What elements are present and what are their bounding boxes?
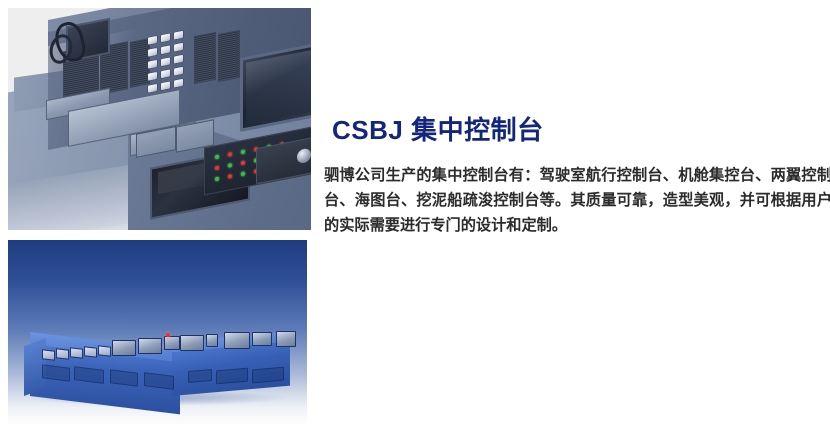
indicator-led — [215, 155, 219, 160]
photo-scene-engine-console — [26, 322, 288, 394]
access-door-panel — [252, 367, 284, 384]
console-access-doors — [26, 322, 288, 394]
indicator-led — [228, 163, 232, 168]
engine-room-console-photo — [8, 240, 307, 426]
product-description: 驷博公司生产的集中控制台有：驾驶室航行控制台、机舱集控台、两翼控制台、海图台、挖… — [324, 163, 830, 238]
indicator-led — [228, 174, 232, 179]
indicator-led — [215, 166, 219, 171]
access-door-panel — [74, 366, 104, 384]
access-door-panel — [144, 372, 174, 390]
indicator-led — [241, 160, 245, 165]
access-door-panel — [110, 369, 138, 386]
bridge-navigation-console-photo — [8, 8, 311, 230]
access-door-panel — [188, 369, 212, 383]
indicator-led — [241, 171, 245, 176]
monitor-glass — [246, 49, 311, 125]
access-door-panel — [42, 364, 70, 381]
louvre-vent — [218, 30, 240, 82]
access-door-panel — [216, 368, 248, 385]
rotary-knob — [297, 148, 311, 165]
product-photo-column — [0, 0, 312, 434]
indicator-led — [241, 149, 245, 154]
louvre-vent — [130, 38, 150, 88]
product-text-column: CSBJ 集中控制台 驷博公司生产的集中控制台有：驾驶室航行控制台、机舱集控台、… — [324, 0, 830, 434]
indicator-led — [228, 152, 232, 157]
console-main-monitor — [240, 42, 311, 132]
product-title: CSBJ 集中控制台 — [332, 110, 544, 147]
indicator-led — [215, 177, 219, 182]
photo-scene-bridge-console — [8, 8, 311, 230]
